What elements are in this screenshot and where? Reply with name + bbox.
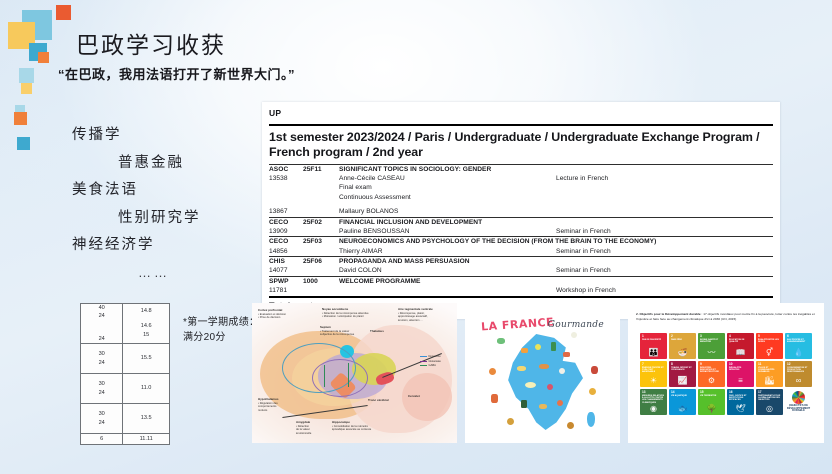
food-icon — [517, 366, 526, 371]
square-yellow-small — [21, 83, 32, 94]
sdg-goal-1: 1PAS DE PAUVRETÉ👪 — [640, 333, 667, 359]
dove-icon: 🕊 — [735, 405, 745, 413]
course-code: SPWP — [269, 277, 303, 286]
credits-cell: 30 24 — [81, 344, 123, 373]
sdg-goal-3: 3BONNE SANTÉ ET BIEN-ÊTRE〰 — [698, 333, 725, 359]
neuroeconomics-brain-diagram: Cortex préfrontal • Evaluation et décisi… — [252, 303, 457, 443]
sustainable-development-goals-poster: 2. Objectifs pour le Développement durab… — [628, 303, 824, 443]
book-icon: 📖 — [736, 349, 746, 357]
sdg-color-wheel-icon — [792, 391, 805, 404]
water-drop-icon: 💧 — [794, 349, 804, 357]
teaching-mode: Workshop in French — [556, 286, 773, 295]
table-row: 30 24 13.5 — [81, 404, 169, 434]
instructor-name: Thierry AIMAR — [339, 247, 556, 256]
course-number: 25F02 — [303, 218, 339, 227]
line-id: 14077 — [269, 266, 303, 275]
assessment-item: Continuous Assessment — [339, 193, 556, 202]
sdg-goal-11: 11VILLES ET COMMUNAUTÉS DURABLES🏙 — [756, 361, 783, 387]
presentation-slide: 巴政学习收获 “在巴政，我用法语打开了新世界大门。” 传播学 普惠金融 美食法语… — [0, 0, 832, 474]
course-number: 1000 — [303, 277, 339, 286]
brain-label-cortex: Cortex préfrontal • Evaluation et décisi… — [258, 309, 314, 320]
equals-icon: ≡ — [738, 377, 743, 385]
brain-label-brainstem: Tronc cérébral — [368, 399, 389, 403]
score-cell: 15.5 — [123, 344, 169, 373]
sdg-goal-9: 9INDUSTRIE, INNOVATION ET INFRASTRUCTURE… — [698, 361, 725, 387]
list-item: 性别研究学 — [72, 211, 262, 226]
gender-icon: ⚥ — [766, 349, 773, 357]
sdg-goal-5: 5ÉGALITÉ ENTRE LES SEXES⚥ — [756, 333, 783, 359]
sdg-goal-12: 12CONSOMMATION ET PRODUCTION RESPONSABLE… — [785, 361, 812, 387]
brain-label-thalamus: Thalamus — [370, 330, 384, 334]
instructor-name: Mallaury BOLANOS — [339, 207, 556, 216]
sdg-goal-grid: 1PAS DE PAUVRETÉ👪 2FAIM ZÉRO🍜 3BONNE SAN… — [640, 333, 812, 415]
course-name: SIGNIFICANT TOPICS IN SOCIOLOGY: GENDER — [339, 165, 773, 174]
heartbeat-icon: 〰 — [708, 349, 716, 357]
credits-cell: 6 — [81, 434, 123, 444]
sdg-goal-10: 10INÉGALITÉS RÉDUITES≡ — [727, 361, 754, 387]
food-icon — [497, 338, 505, 344]
list-item: 普惠金融 — [72, 156, 262, 171]
food-icon — [563, 352, 570, 357]
course-name: FINANCIAL INCLUSION AND DEVELOPMENT — [339, 218, 773, 227]
transcript-header: UP — [269, 106, 773, 124]
score-cell: 14.8 14.6 15 — [123, 304, 169, 343]
food-icon — [571, 332, 577, 338]
brain-label-hippocampus: Hippocampe • Consolidation de la mémoire… — [332, 421, 394, 432]
score-cell: 13.5 — [123, 404, 169, 433]
course-name: WELCOME PROGRAMME — [339, 277, 773, 286]
food-icon — [551, 342, 556, 351]
list-item: 传播学 — [72, 128, 262, 143]
food-icon — [489, 368, 496, 375]
brain-label-vta: Aire tegmentale ventrale • Récompense, p… — [398, 308, 454, 322]
instructor-name: Pauline BENSOUSSAN — [339, 227, 556, 236]
food-icon — [559, 368, 565, 374]
infinity-icon: ∞ — [796, 377, 802, 385]
food-icon — [539, 364, 549, 369]
grades-table: 40 24 24 14.8 14.6 15 30 24 15.5 30 24 — [80, 303, 170, 445]
course-number: 25F11 — [303, 165, 339, 174]
food-icon — [591, 366, 598, 374]
credits-cell: 40 24 24 — [81, 304, 123, 343]
page-subtitle: “在巴政，我用法语打开了新世界大门。” — [58, 64, 388, 83]
circles-icon: ◎ — [766, 405, 773, 413]
score-cell: 11.11 — [123, 434, 169, 444]
food-icon — [525, 382, 536, 388]
city-icon: 🏙 — [764, 377, 774, 385]
course-name: PROPAGANDA AND MASS PERSUASION — [339, 257, 773, 266]
brain-label-hypothalamus: Hypothalamus • Régulation des comporteme… — [258, 398, 306, 412]
people-icon: 👪 — [649, 349, 659, 357]
growth-chart-icon: 📈 — [678, 377, 688, 385]
sdg-goal-15: 15VIE TERRESTRE🌳 — [698, 389, 725, 415]
course-number: 25F03 — [303, 237, 339, 246]
table-row: 30 24 11.0 — [81, 374, 169, 404]
line-id: 13538 — [269, 174, 303, 183]
food-icon — [491, 394, 498, 403]
credits-cell: 30 24 — [81, 374, 123, 403]
course-code: CECO — [269, 218, 303, 227]
course-highlight-list: 传播学 普惠金融 美食法语 性别研究学 神经经济学 …… — [72, 128, 262, 292]
grades-annotation: *第一学期成绩：满分20分 — [183, 315, 263, 345]
instructor-name — [339, 286, 556, 295]
square-orange-small — [56, 5, 71, 20]
bowl-icon: 🍜 — [678, 349, 688, 357]
food-icon — [521, 348, 528, 353]
list-item-ellipsis: …… — [72, 266, 262, 279]
list-item: 神经经济学 — [72, 238, 262, 253]
sdg-goal-6: 6EAU PROPRE ET ASSAINISSEMENT💧 — [785, 333, 812, 359]
table-row: CECO 25F03 NEUROECONOMICS AND PSYCHOLOGY… — [269, 237, 773, 256]
industry-icon: ⚙ — [708, 377, 715, 385]
food-icon — [507, 418, 514, 425]
table-row: CECO 25F02 FINANCIAL INCLUSION AND DEVEL… — [269, 218, 773, 237]
sdg-goal-13: 13MESURES RELATIVES À LA LUTTE CONTRE LE… — [640, 389, 667, 415]
table-row: 6 11.11 — [81, 434, 169, 444]
brain-label-septum: Septum • Traitement de la valeur subject… — [320, 326, 372, 337]
sdg-wheel-label: OBJECTIFS DE DÉVELOPPEMENT DURABLE — [785, 405, 812, 414]
food-icon — [547, 384, 553, 390]
fish-icon: 🐟 — [678, 405, 688, 413]
teaching-mode: Lecture in French — [556, 174, 773, 183]
course-code: CECO — [269, 237, 303, 246]
sun-icon: ☀ — [650, 377, 657, 385]
brain-label-cerebellum: Cervelet — [408, 395, 420, 399]
france-outline — [505, 334, 583, 430]
sdg-caption: 2. Objectifs pour le Développement durab… — [636, 312, 816, 321]
square-orange-mid — [38, 52, 49, 63]
transcript-document: UP 1st semester 2023/2024 / Paris / Unde… — [262, 102, 780, 319]
map-title: LA FRANCE — [481, 315, 555, 333]
teaching-mode: Seminar in French — [556, 266, 773, 275]
square-orange-mid2 — [14, 112, 27, 125]
brain-legend: Dopamine Glutamate GABA — [420, 355, 441, 368]
line-id: 11781 — [269, 286, 303, 295]
line-id: 13909 — [269, 227, 303, 236]
square-teal-dark — [17, 137, 30, 150]
page-title: 巴政学习收获 — [76, 32, 388, 58]
line-id: 14856 — [269, 247, 303, 256]
table-row: SPWP 1000 WELCOME PROGRAMME 11781 Worksh… — [269, 277, 773, 296]
assessment-item: Final exam — [339, 183, 556, 192]
sdg-wheel-logo: OBJECTIFS DE DÉVELOPPEMENT DURABLE — [785, 389, 812, 415]
sdg-goal-2: 2FAIM ZÉRO🍜 — [669, 333, 696, 359]
instructor-name: Anne-Cécile CASEAU — [339, 174, 556, 183]
teaching-mode: Seminar in French — [556, 247, 773, 256]
course-number: 25F06 — [303, 257, 339, 266]
food-icon — [589, 388, 596, 395]
la-france-gourmande-map: LA FRANCE Gourmande — [465, 303, 620, 443]
food-icon — [535, 344, 541, 350]
sdg-goal-8: 8TRAVAIL DÉCENT ET CROISSANCE📈 — [669, 361, 696, 387]
sdg-goal-17: 17PARTENARIATS POUR LA RÉALISATION DES O… — [756, 389, 783, 415]
sdg-goal-4: 4ÉDUCATION DE QUALITÉ📖 — [727, 333, 754, 359]
course-code: CHIS — [269, 257, 303, 266]
score-cell: 11.0 — [123, 374, 169, 403]
food-icon — [557, 400, 563, 406]
square-teal-pale — [19, 68, 34, 83]
food-icon — [539, 404, 547, 409]
sdg-caption-bold: 2. Objectifs pour le Développement durab… — [636, 312, 701, 316]
course-code: ASOC — [269, 165, 303, 174]
sdg-goal-16: 16PAIX, JUSTICE ET INSTITUTIONS EFFICACE… — [727, 389, 754, 415]
course-name: NEUROECONOMICS AND PSYCHOLOGY OF THE DEC… — [339, 237, 773, 246]
map-subtitle: Gourmande — [548, 320, 604, 330]
instructor-name: David COLON — [339, 266, 556, 275]
sdg-goal-7: 7ÉNERGIE PROPRE ET D'UN COÛT ABORDABLE☀ — [640, 361, 667, 387]
table-row: ASOC 25F11 SIGNIFICANT TOPICS IN SOCIOLO… — [269, 165, 773, 217]
tree-icon: 🌳 — [707, 405, 717, 413]
corsica-outline — [587, 412, 595, 427]
food-icon — [567, 422, 574, 429]
table-row: 40 24 24 14.8 14.6 15 — [81, 304, 169, 344]
brain-label-accumbens: Noyau accumbens • Détection de la récomp… — [322, 308, 388, 319]
list-item: 美食法语 — [72, 183, 262, 198]
sdg-goal-14: 14VIE AQUATIQUE🐟 — [669, 389, 696, 415]
teaching-mode: Seminar in French — [556, 227, 773, 236]
table-row: 30 24 15.5 — [81, 344, 169, 374]
table-row: CHIS 25F06 PROPAGANDA AND MASS PERSUASIO… — [269, 257, 773, 276]
globe-eye-icon: ◉ — [650, 405, 657, 413]
line-id: 13867 — [269, 207, 303, 216]
transcript-title: 1st semester 2023/2024 / Paris / Undergr… — [269, 126, 773, 164]
food-icon — [521, 400, 527, 408]
credits-cell: 30 24 — [81, 404, 123, 433]
title-block: 巴政学习收获 “在巴政，我用法语打开了新世界大门。” — [58, 32, 388, 83]
